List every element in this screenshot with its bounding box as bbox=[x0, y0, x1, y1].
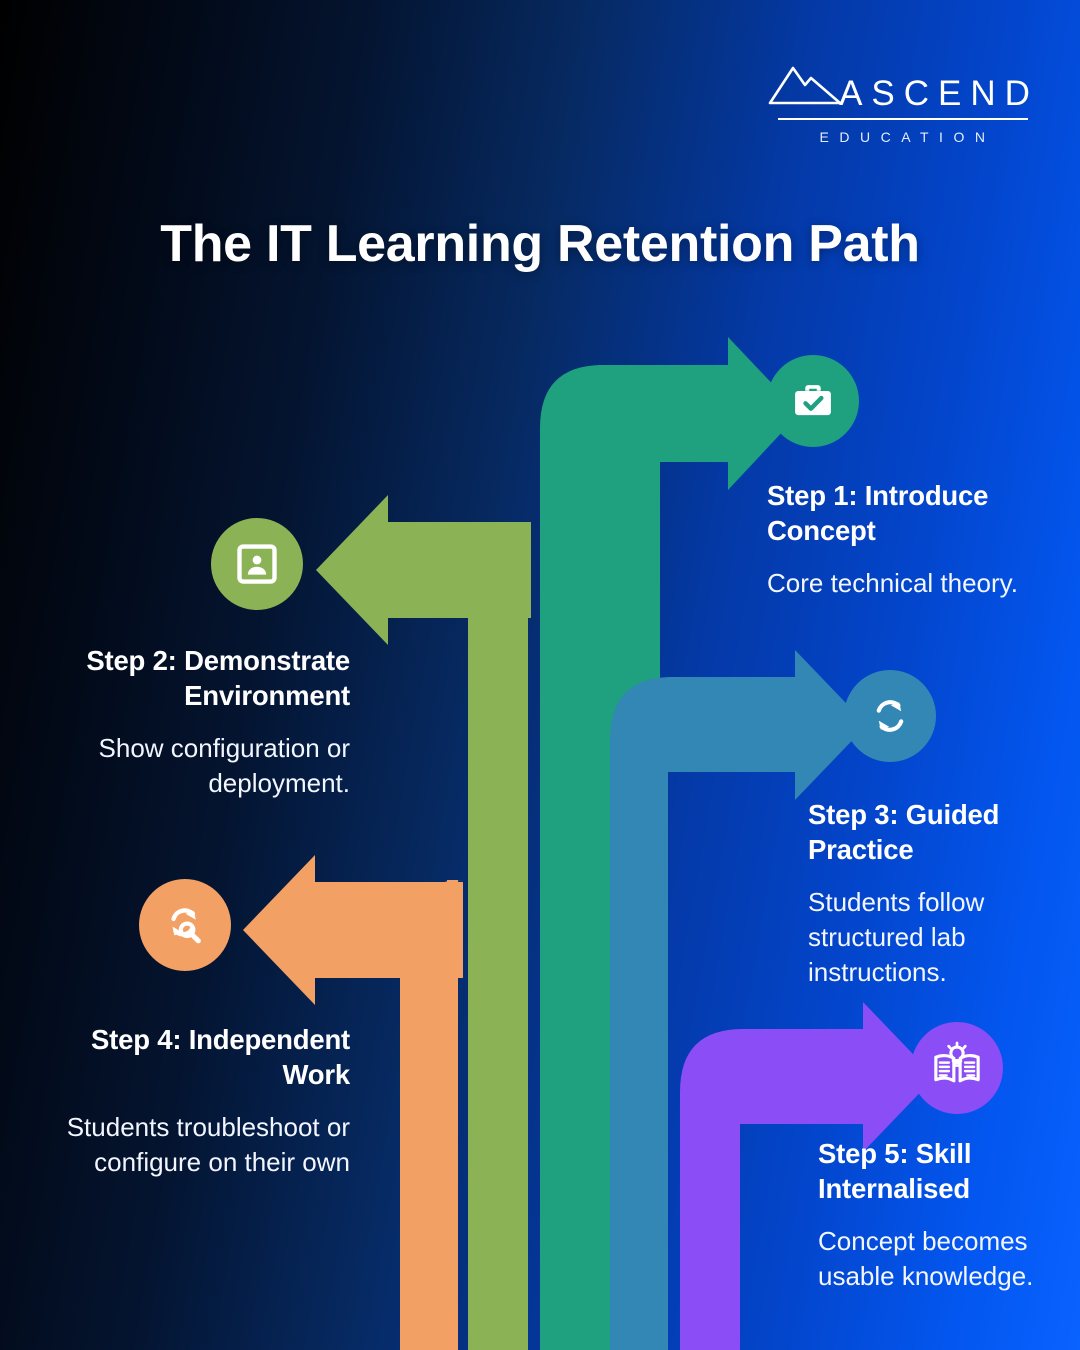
step-3-icon-circle bbox=[844, 670, 936, 762]
step-3-description: Students follow structured lab instructi… bbox=[808, 885, 1058, 989]
step-4-description: Students troubleshoot or configure on th… bbox=[60, 1110, 350, 1180]
portrait-person-icon bbox=[232, 539, 282, 589]
step-2-text-block: Step 2: Demonstrate Environment Show con… bbox=[25, 643, 350, 801]
step-1-icon-circle bbox=[767, 355, 859, 447]
briefcase-check-icon bbox=[788, 376, 838, 426]
infographic-canvas: ASCEND EDUCATION The IT Learning Retenti… bbox=[0, 0, 1080, 1350]
arrow-step-1-stem2 bbox=[540, 430, 598, 1350]
book-lightbulb-icon bbox=[930, 1041, 984, 1095]
arrow-step-5-body bbox=[740, 1029, 868, 1124]
step-2-description: Show configuration or deployment. bbox=[25, 731, 350, 801]
step-3-text-block: Step 3: Guided Practice Students follow … bbox=[808, 797, 1058, 990]
arrow-step-1-body bbox=[598, 365, 733, 462]
step-5-icon-circle bbox=[911, 1022, 1003, 1114]
step-5-description: Concept becomes usable knowledge. bbox=[818, 1224, 1064, 1294]
arrow-step-2-stem bbox=[468, 522, 531, 1350]
step-2-icon-circle bbox=[211, 518, 303, 610]
step-1-title: Step 1: Introduce Concept bbox=[767, 478, 1035, 548]
step-5-text-block: Step 5: Skill Internalised Concept becom… bbox=[818, 1136, 1064, 1294]
arrow-step-4-body bbox=[310, 882, 463, 978]
step-5-title: Step 5: Skill Internalised bbox=[818, 1136, 1064, 1206]
step-1-text-block: Step 1: Introduce Concept Core technical… bbox=[767, 478, 1035, 601]
sync-refresh-icon bbox=[866, 692, 914, 740]
arrow-step-1-corner bbox=[540, 365, 603, 430]
step-3-title: Step 3: Guided Practice bbox=[808, 797, 1058, 867]
step-1-description: Core technical theory. bbox=[767, 566, 1035, 601]
arrow-step-5-stem bbox=[680, 1092, 740, 1350]
arrow-step-5-corner bbox=[680, 1029, 743, 1092]
step-4-text-block: Step 4: Independent Work Students troubl… bbox=[60, 1022, 350, 1180]
step-2-title: Step 2: Demonstrate Environment bbox=[25, 643, 350, 713]
step-4-icon-circle bbox=[139, 879, 231, 971]
step-4-title: Step 4: Independent Work bbox=[60, 1022, 350, 1092]
arrow-step-2-head bbox=[316, 495, 388, 645]
arrow-step-3-body bbox=[668, 677, 800, 772]
arrow-step-3-stem bbox=[610, 740, 668, 1350]
arrow-step-2-body bbox=[383, 522, 531, 618]
refresh-search-icon bbox=[160, 900, 210, 950]
arrow-step-4-head bbox=[243, 855, 315, 1005]
